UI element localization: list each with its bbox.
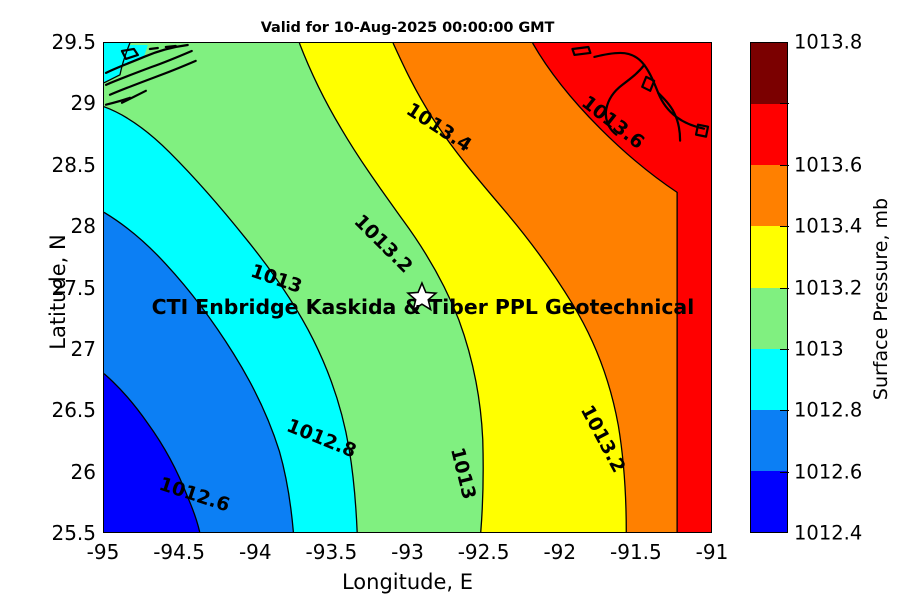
y-tick-label: 29: [71, 91, 96, 115]
colorbar-tick: [780, 226, 789, 227]
chart-title: Valid for 10-Aug-2025 00:00:00 GMT: [103, 20, 712, 36]
colorbar-tick: [780, 103, 789, 104]
x-tick-label: -91.5: [610, 540, 662, 564]
site-annotation-label: CTI Enbridge Kaskida & Tiber PPL Geotech…: [152, 295, 695, 319]
x-axis-tick-labels: -95 -94.5 -94 -93.5 -93 -92.5 -92 -91.5 …: [0, 540, 900, 570]
y-tick-label: 29.5: [51, 30, 96, 54]
colorbar-tick: [780, 472, 789, 473]
colorbar-tick-label: 1012.8: [794, 399, 862, 422]
y-tick-label: 27: [71, 337, 96, 361]
x-tick-label: -92: [543, 540, 576, 564]
colorbar-tick: [780, 349, 789, 350]
colorbar-tick-label: 1013: [794, 337, 844, 360]
x-axis-title: Longitude, E: [103, 570, 712, 594]
x-tick-label: -92.5: [458, 540, 510, 564]
x-tick-label: -95: [87, 540, 120, 564]
colorbar-tick: [780, 288, 789, 289]
x-tick-label: -93.5: [306, 540, 358, 564]
colorbar-tick-label: 1013.6: [794, 153, 862, 176]
colorbar-axis-title: Surface Pressure, mb: [870, 134, 892, 464]
colorbar-tick-label: 1012.4: [794, 522, 862, 545]
x-tick-label: -93: [391, 540, 424, 564]
y-tick-label: 26: [71, 460, 96, 484]
colorbar-tick-marks: [750, 42, 796, 533]
colorbar-tick: [780, 165, 789, 166]
colorbar-tick: [780, 410, 789, 411]
x-tick-label: -94: [239, 540, 272, 564]
x-tick-label: -94.5: [153, 540, 205, 564]
colorbar-tick-label: 1013.4: [794, 215, 862, 238]
y-tick-label: 28: [71, 214, 96, 238]
figure-canvas: Valid for 10-Aug-2025 00:00:00 GMT 25.5 …: [0, 0, 900, 600]
y-axis-title: Latitude, N: [46, 132, 70, 452]
colorbar-tick-label: 1013.8: [794, 31, 862, 54]
x-tick-label: -91: [696, 540, 729, 564]
contour-plot-area: 1012.6 1012.8 1013 1013 1013.2 1013.2 10…: [103, 42, 712, 533]
contour-map-svg: 1012.6 1012.8 1013 1013 1013.2 1013.2 10…: [104, 43, 711, 532]
colorbar-tick-label: 1013.2: [794, 276, 862, 299]
